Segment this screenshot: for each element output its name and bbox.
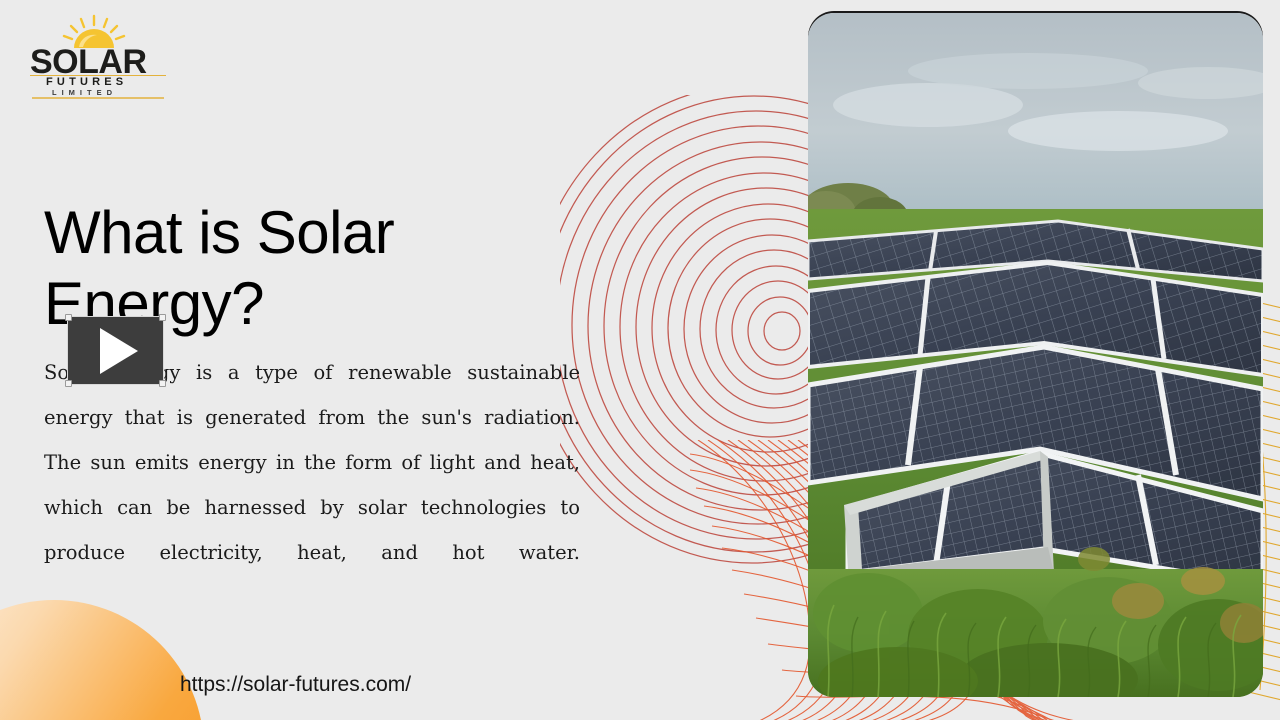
website-url[interactable]: https://solar-futures.com/ xyxy=(180,673,411,697)
selection-handle-top-right[interactable] xyxy=(159,314,166,321)
brand-logo[interactable]: SOLAR FUTURES LIMITED xyxy=(18,14,178,100)
body-paragraph: Solar energy is a type of renewable sust… xyxy=(44,350,580,620)
solar-panel-photo xyxy=(808,13,1263,697)
svg-text:LIMITED: LIMITED xyxy=(52,88,117,97)
svg-text:FUTURES: FUTURES xyxy=(46,76,127,88)
play-button[interactable] xyxy=(68,317,163,384)
play-triangle-icon xyxy=(100,328,138,374)
selection-handle-top-left[interactable] xyxy=(65,314,72,321)
slide-canvas: SOLAR FUTURES LIMITED What is Solar Ener… xyxy=(0,0,1280,720)
selection-handle-bottom-right[interactable] xyxy=(159,380,166,387)
selection-handle-bottom-left[interactable] xyxy=(65,380,72,387)
